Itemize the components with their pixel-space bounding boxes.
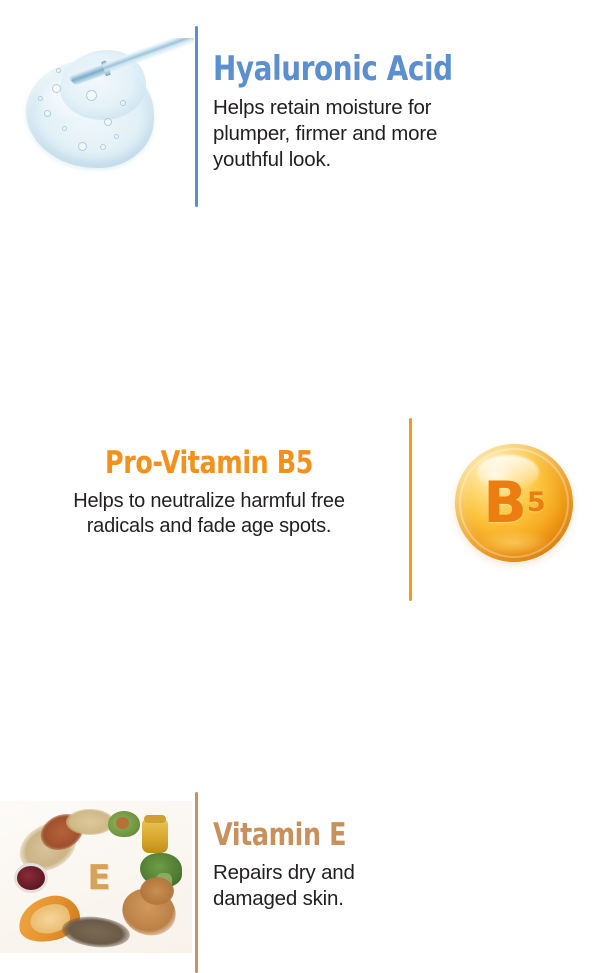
- heading-vitamin-e: Vitamin E: [213, 820, 484, 851]
- body-line: Helps retain moisture for: [213, 95, 543, 121]
- food-avocado-pit: [116, 817, 129, 829]
- body-line: youthful look.: [213, 147, 543, 173]
- gel-bubble-icon: [62, 126, 67, 131]
- food-oil-jar: [142, 819, 168, 853]
- gel-bubble-icon: [44, 110, 51, 117]
- body-line: Repairs dry and: [213, 860, 543, 886]
- food-letter-e: E: [84, 859, 114, 897]
- hyaluronic-gel-dropper-image: [8, 38, 194, 190]
- body-line: damaged skin.: [213, 886, 543, 912]
- body-vitamin-e: Repairs dry and damaged skin.: [213, 860, 543, 912]
- gel-bubble-icon: [114, 134, 119, 139]
- text-block-vitamin-e: Vitamin E Repairs dry and damaged skin.: [213, 820, 543, 912]
- divider-hyaluronic-acid: [195, 26, 198, 207]
- gel-bubble-icon: [56, 68, 61, 73]
- gel-bubble-icon: [104, 118, 112, 126]
- gel-bubble-icon: [86, 90, 97, 101]
- food-chia-seeds: [61, 914, 132, 951]
- food-walnuts: [140, 877, 174, 905]
- body-hyaluronic-acid: Helps retain moisture for plumper, firme…: [213, 95, 543, 173]
- infographic-root: Hyaluronic Acid Helps retain moisture fo…: [0, 0, 600, 600]
- food-jam-jar: [14, 863, 48, 893]
- gel-bubble-icon: [38, 96, 43, 101]
- text-block-hyaluronic-acid: Hyaluronic Acid Helps retain moisture fo…: [213, 52, 543, 173]
- section-pro-vitamin-b5: Pro-Vitamin B5 Helps to neutralize harmf…: [0, 208, 600, 396]
- gel-bubble-icon: [78, 142, 87, 151]
- gel-bubble-icon: [100, 144, 106, 150]
- gel-bubble-icon: [52, 84, 61, 93]
- gel-bubble-icon: [120, 100, 126, 106]
- body-line: plumper, firmer and more: [213, 121, 543, 147]
- dropper-tube: [101, 38, 194, 75]
- heading-hyaluronic-acid: Hyaluronic Acid: [213, 52, 484, 86]
- food-seeds-top: [66, 809, 114, 835]
- food-oil-jar-lid: [144, 815, 166, 823]
- section-vitamin-e: E Vitamin E Repairs dry and damaged skin…: [0, 396, 600, 600]
- divider-vitamin-e: [195, 792, 198, 973]
- vitamin-e-foods-image: E: [0, 801, 192, 953]
- section-hyaluronic-acid: Hyaluronic Acid Helps retain moisture fo…: [0, 0, 600, 208]
